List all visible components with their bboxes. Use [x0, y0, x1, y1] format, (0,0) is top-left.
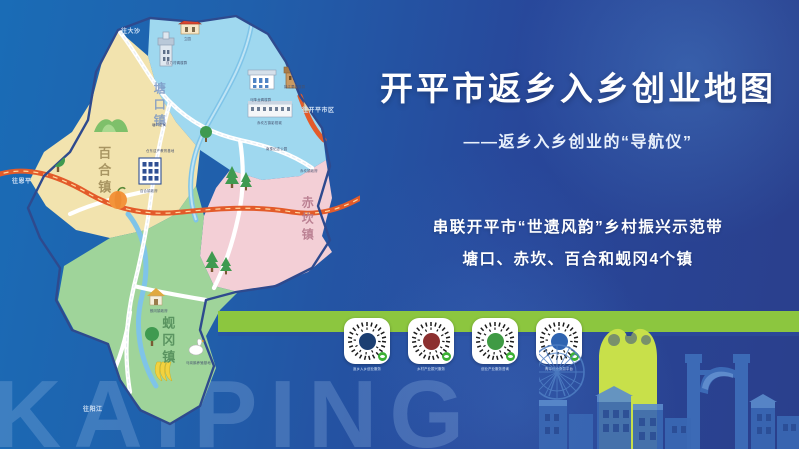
map-poi-label: 赤坎古镇影视城: [257, 120, 282, 125]
qr-card[interactable]: [472, 318, 518, 364]
map-poi-label: 马岗鹅养殖基地: [186, 360, 211, 365]
map-poi-label: 立园: [184, 36, 191, 41]
map-poi-label: 百合镇政府: [140, 188, 158, 193]
map-poi-label: 赤坎镇政府: [300, 168, 318, 173]
map-poi-label: 马降龙碉楼群: [250, 97, 271, 102]
wechat-badge-icon: [378, 352, 387, 361]
ferris-wheel-icon: [539, 345, 584, 399]
map-direction-label: 往开平市区: [302, 105, 335, 114]
wechat-badge-icon: [442, 352, 451, 361]
wechat-badge-icon: [506, 352, 515, 361]
poster-root: KAIPING: [0, 0, 799, 449]
icon-liyuan-villa: [179, 17, 201, 34]
qr-card[interactable]: [344, 318, 390, 364]
map-direction-label: 往恩平: [12, 176, 32, 185]
map-poi-label: 塘口空间: [152, 122, 166, 127]
qr-item[interactable]: 创业产业服务咨询: [472, 318, 518, 371]
map-svg: [0, 0, 360, 449]
qr-caption: 创业产业服务咨询: [481, 366, 509, 371]
qr-caption: 返乡入乡创业服务: [353, 366, 381, 371]
page-title: 开平市返乡入乡创业地图: [368, 62, 788, 110]
city-skyline-silhouette: [539, 314, 799, 449]
icon-chikan-arcade: [248, 101, 292, 117]
page-subtitle: ——返乡入乡创业的“导航仪”: [368, 128, 788, 152]
map-poi-label: 蚬冈镇政府: [150, 308, 168, 313]
kaiping-illustrated-map: 塘口镇 百合镇 赤坎镇 蚬冈镇 往大沙 往开平市区 往恩平 往阳江 自力村碉楼群…: [0, 0, 360, 449]
qr-item[interactable]: 乡村产业振兴服务: [408, 318, 454, 371]
blurb-block: 串联开平市“世遗风韵”乡村振兴示范带 塘口、赤坎、百合和蚬冈4个镇: [360, 212, 796, 276]
map-poi-label: 锦江里碉楼群: [284, 84, 305, 89]
map-poi-label: 自力村碉楼群: [166, 60, 187, 65]
map-direction-label: 往大沙: [121, 26, 141, 35]
map-direction-label: 往阳江: [83, 404, 103, 413]
blurb-line: 塘口、赤坎、百合和蚬冈4个镇: [360, 244, 796, 276]
map-poi-label: 仓东遗产教育基地: [146, 148, 174, 153]
arch-gate-icon: [685, 354, 750, 449]
map-poi-label: 南楼纪念公园: [266, 146, 287, 151]
icon-blue-apartment: [139, 158, 161, 184]
icon-white-mansion: [248, 70, 276, 89]
qr-card[interactable]: [408, 318, 454, 364]
diaolou-row-icon: [539, 402, 799, 449]
qr-caption: 乡村产业振兴服务: [417, 366, 445, 371]
blurb-line: 串联开平市“世遗风韵”乡村振兴示范带: [360, 212, 796, 244]
qr-item[interactable]: 返乡入乡创业服务: [344, 318, 390, 371]
